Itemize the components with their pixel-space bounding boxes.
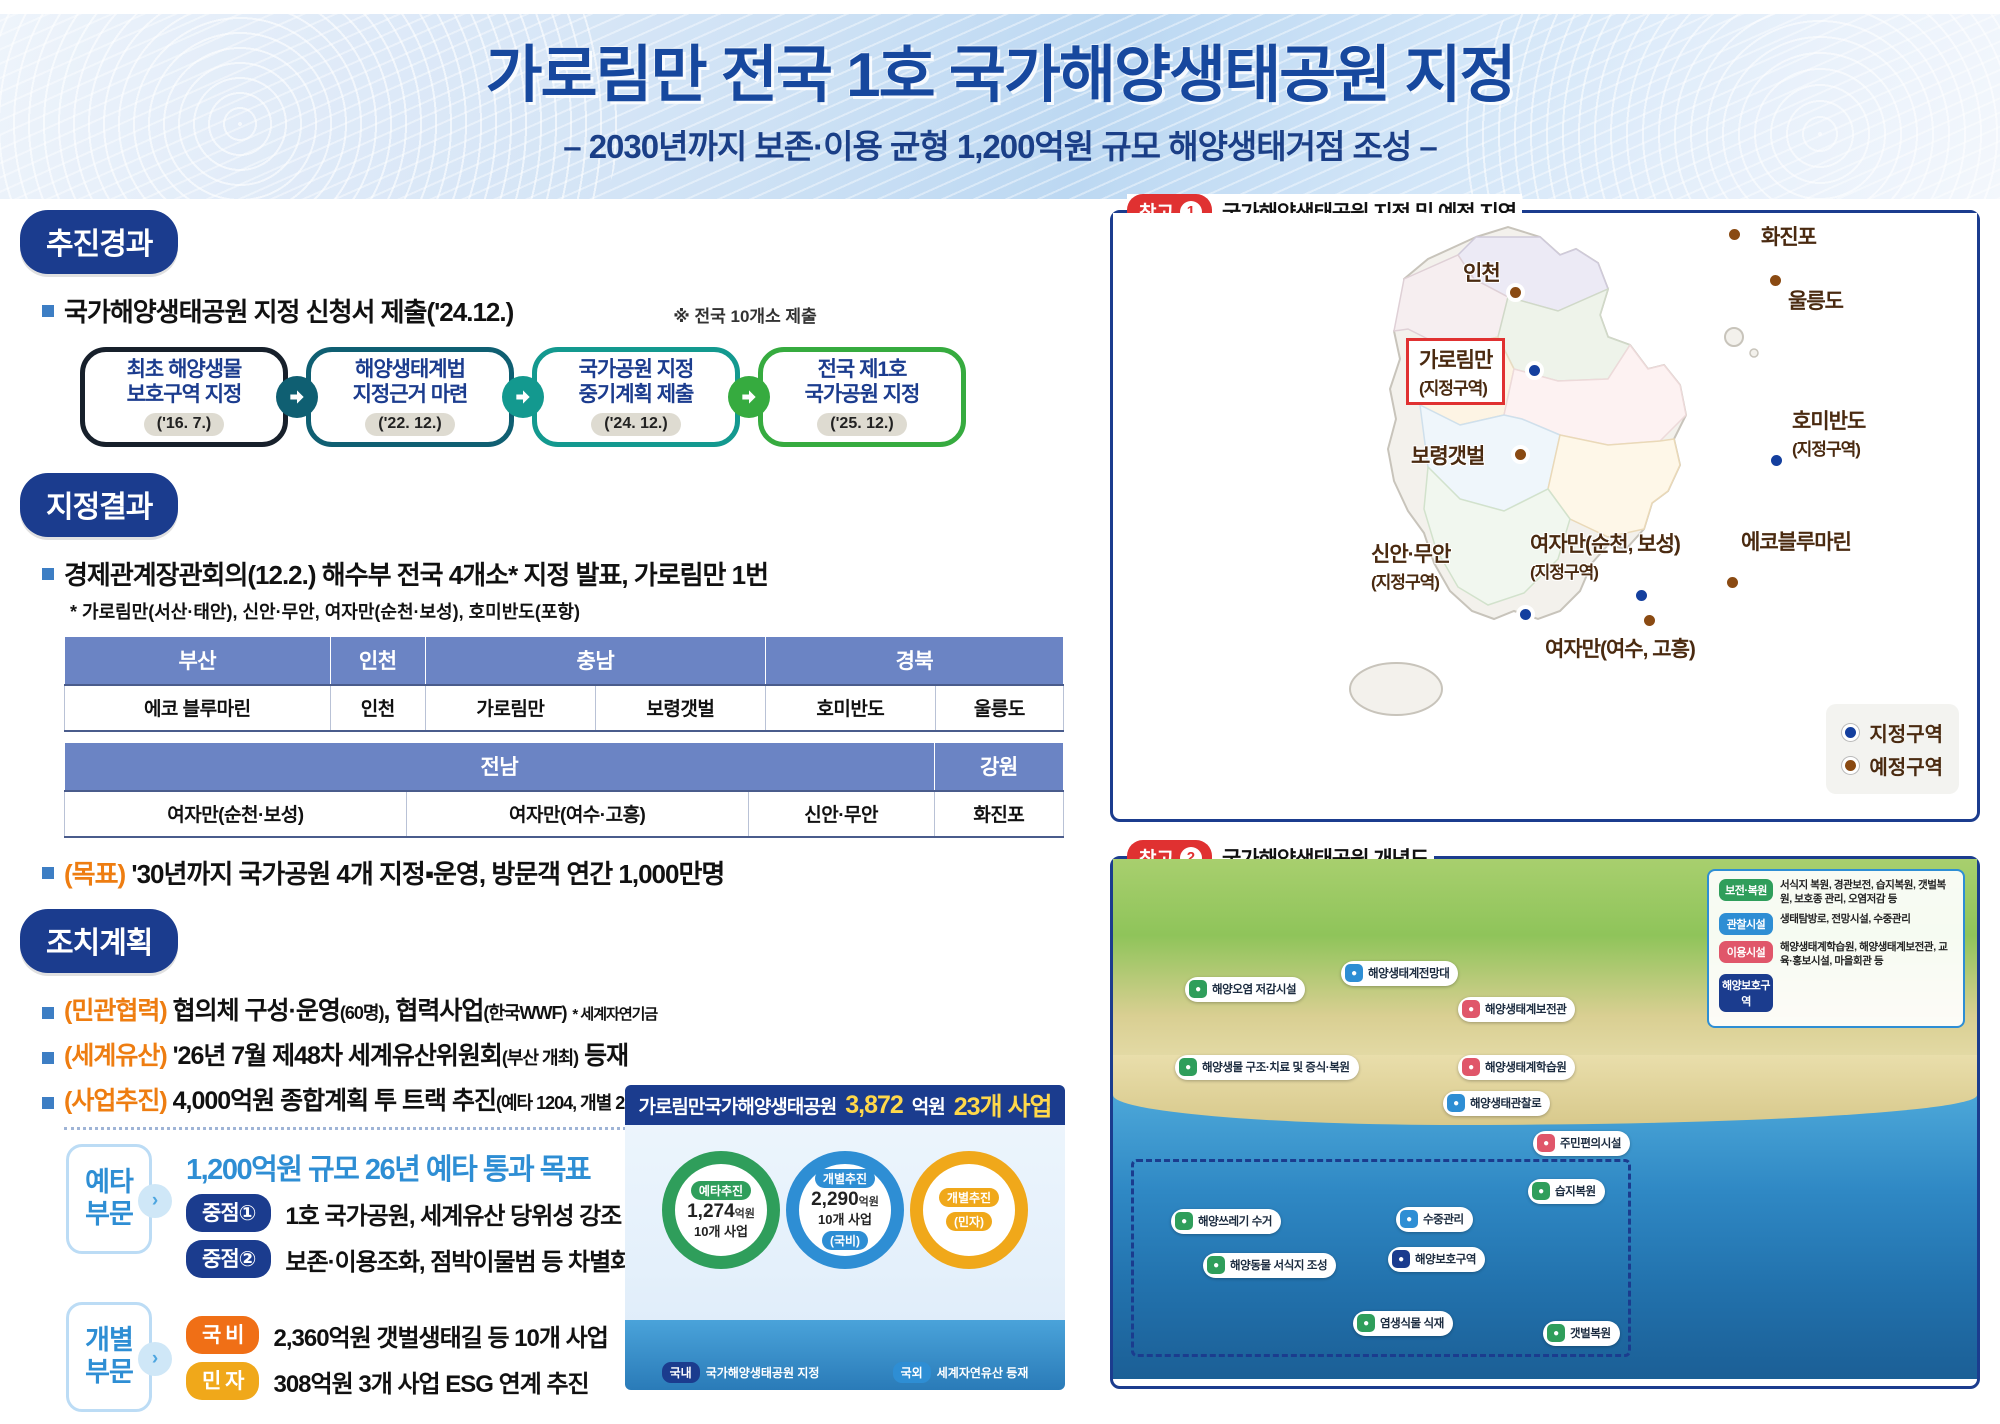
donut-footer-row: 국내국가해양생태공원 지정국외세계자연유산 등재 <box>625 1320 1065 1390</box>
map-label-name: 보령갯벌 <box>1411 445 1484 468</box>
yeta-row-chip: 중점① <box>186 1194 271 1232</box>
page-title: 가로림만 전국 1호 국가해양생태공원 지정 <box>0 24 2000 114</box>
donut-sub: (민자) <box>946 1212 992 1231</box>
donut-panel-header: 가로림만국가해양생태공원 3,872 억원 23개 사업 <box>625 1085 1065 1125</box>
budget-yeta-side-line1: 예타 <box>85 1167 133 1199</box>
map-label-4: 가로림만(지정구역) <box>1406 338 1505 405</box>
donut-panel-unit: 억원 <box>912 1092 945 1119</box>
map-label-sub: (지정구역) <box>1530 558 1680 583</box>
plan-item-main: '26년 7월 제48차 세계유산위원회 <box>173 1042 502 1070</box>
donut-label: 개별추진 <box>939 1188 999 1207</box>
concept-legend-row-4: 해양보호구역 <box>1719 974 1953 1012</box>
table-cell: 신안·무안 <box>748 791 934 837</box>
concept-legend-key: 해양보호구역 <box>1719 974 1773 1012</box>
gaebyeol-row-text: 308억원 3개 사업 ESG 연계 추진 <box>273 1364 588 1399</box>
concept-illustration: 보전·복원서식지 복원, 경관보전, 습지복원, 갯벌복원, 보호종 관리, 오… <box>1113 859 1977 1379</box>
section-heading-result: 지정결과 <box>20 473 178 537</box>
section-heading-progress: 추진경과 <box>20 210 178 274</box>
donut-sub: (국비) <box>822 1231 868 1250</box>
donut-footer-key: 국내 <box>662 1362 700 1383</box>
map-label-name: 화진포 <box>1761 226 1816 249</box>
right-column: 참고 1 국가해양생태공원 지정 및 예정 지역 <box>1110 210 1980 1389</box>
page-subtitle: – 2030년까지 보존·이용 균형 1,200억원 규모 해양생태거점 조성 … <box>0 120 2000 168</box>
map-label-7: 여자만(순천, 보성)(지정구역) <box>1530 528 1680 583</box>
flow-step-title: 국가공원 지정중기계획 제출 <box>579 358 694 407</box>
goal-line: (목표) '30년까지 국가공원 4개 지정▪운영, 방문객 연간 1,000만… <box>64 854 724 891</box>
donut-footer-1: 국내국가해양생태공원 지정 <box>662 1362 820 1383</box>
concept-pin-label: 해양생태관찰로 <box>1470 1095 1541 1111</box>
flow-step-3: 국가공원 지정중기계획 제출('24. 12.) <box>532 347 740 447</box>
map-label-name: 호미반도 <box>1792 410 1865 433</box>
map-marker-dot-icon <box>1516 605 1535 624</box>
plan-item-text: (사업추진) 4,000억원 종합계획 투 트랙 추진(예타 1204, 개별 … <box>64 1081 660 1117</box>
plan-item-tag: (민관협력) <box>64 997 167 1025</box>
designation-table: 부산인천충남경북 에코 블루마린인천가로림만보령갯벌호미반도울릉도 <box>64 636 1064 732</box>
donut-3: 개별추진(민자) <box>910 1151 1028 1269</box>
concept-pin-label: 염생식물 식재 <box>1380 1315 1444 1331</box>
bullet-square-icon <box>42 1052 54 1064</box>
donut-value: 2,290억원 <box>811 1190 879 1209</box>
map-label-name: 여자만(여수, 고흥) <box>1545 638 1695 661</box>
korea-map: 화진포인천울릉도가로림만(지정구역)호미반도(지정구역)보령갯벌여자만(순천, … <box>1113 213 1977 808</box>
concept-pin-6: ●해양생태관찰로 <box>1443 1091 1550 1116</box>
result-footnote: * 가로림만(서산·태안), 신안·무안, 여자만(순천·보성), 호미반도(포… <box>70 598 1100 624</box>
concept-pin-icon: ● <box>1400 1210 1418 1228</box>
table-cell: 울릉도 <box>935 685 1063 731</box>
flow-step-date: ('22. 12.) <box>365 413 454 436</box>
map-label-sub: (지정구역) <box>1371 568 1450 593</box>
concept-pin-label: 해양오염 저감시설 <box>1212 981 1296 997</box>
legend-label-planned: 예정구역 <box>1869 751 1943 780</box>
map-marker-dot-icon <box>1511 445 1530 464</box>
concept-pin-8: ●습지복원 <box>1528 1179 1605 1204</box>
goal-tag: (목표) <box>64 859 125 889</box>
concept-pin-label: 해양쓰레기 수거 <box>1198 1213 1272 1229</box>
concept-pin-label: 해양생태계전망대 <box>1368 965 1449 981</box>
map-label-sub: (지정구역) <box>1419 374 1492 399</box>
bullet-square-icon <box>42 1097 54 1109</box>
concept-legend-key: 관찰시설 <box>1719 913 1773 935</box>
reference-panel-1: 참고 1 국가해양생태공원 지정 및 예정 지역 <box>1110 210 1980 822</box>
donut-panel-prefix: 가로림만국가해양생태공원 <box>638 1092 836 1119</box>
budget-gaebyeol-side-line1: 개별 <box>85 1325 133 1357</box>
map-label-name: 에코블루마린 <box>1741 531 1851 554</box>
donut-footer-key: 국외 <box>893 1362 931 1383</box>
map-marker-dot-icon <box>1632 586 1651 605</box>
map-marker-dot-icon <box>1640 611 1659 630</box>
legend-swatch-planned-icon <box>1842 757 1859 774</box>
bullet-square-icon <box>42 305 54 317</box>
concept-pin-label: 해양동물 서식지 조성 <box>1230 1257 1327 1273</box>
yeta-row-text: 보존·이용조화, 점박이물범 등 차별화 <box>285 1242 631 1277</box>
plan-item-tag: (세계유산) <box>64 1042 167 1070</box>
map-label-name: 여자만(순천, 보성) <box>1530 533 1680 556</box>
goal-text: '30년까지 국가공원 4개 지정▪운영, 방문객 연간 1,000만명 <box>131 859 724 889</box>
concept-pin-icon: ● <box>1179 1058 1197 1076</box>
yeta-row-chip: 중점② <box>186 1240 271 1278</box>
plan-item-main2: , 협력사업 <box>383 997 483 1025</box>
concept-pin-label: 수중관리 <box>1423 1211 1464 1227</box>
map-label-name: 가로림만 <box>1419 349 1492 372</box>
legend-item-planned: 예정구역 <box>1842 751 1943 780</box>
map-marker-dot-icon <box>1725 225 1744 244</box>
bullet-square-icon <box>42 1007 54 1019</box>
concept-pin-label: 갯벌복원 <box>1570 1325 1611 1341</box>
donut-footer-text: 국가해양생태공원 지정 <box>706 1364 820 1381</box>
goal-row: (목표) '30년까지 국가공원 4개 지정▪운영, 방문객 연간 1,000만… <box>42 854 1100 891</box>
map-marker-dot-icon <box>1723 573 1742 592</box>
donut-footer-2: 국외세계자연유산 등재 <box>893 1362 1029 1383</box>
concept-legend-value: 해양생태계학습원, 해양생태계보전관, 교육·홍보시설, 마을회관 등 <box>1780 941 1953 969</box>
plan-item-2: (세계유산) '26년 7월 제48차 세계유산위원회(부산 개최) 등재 <box>42 1036 1100 1072</box>
bullet-square-icon <box>42 568 54 580</box>
concept-pin-icon: ● <box>1462 1058 1480 1076</box>
gaebyeol-row-1: 국 비2,360억원 갯벌생태길 등 10개 사업 <box>186 1316 608 1354</box>
yeta-row-text: 1호 국가공원, 세계유산 당위성 강조 <box>285 1196 621 1231</box>
flow-step-4: 전국 제1호국가공원 지정('25. 12.) <box>758 347 966 447</box>
progress-bullet-text: 국가해양생태공원 지정 신청서 제출('24.12.) <box>64 292 513 329</box>
flow-step-title: 전국 제1호국가공원 지정 <box>805 358 920 407</box>
progress-bullet-row: 국가해양생태공원 지정 신청서 제출('24.12.) ※ 전국 10개소 제출 <box>42 292 1100 329</box>
map-label-name: 인천 <box>1463 262 1500 285</box>
concept-pin-label: 해양생물 구조·치료 및 증식·복원 <box>1202 1059 1350 1075</box>
map-label-9: 신안·무안(지정구역) <box>1371 538 1450 593</box>
table-header-cell: 전남 <box>65 743 935 792</box>
map-label-5: 호미반도(지정구역) <box>1792 405 1865 460</box>
map-label-6: 보령갯벌 <box>1411 440 1484 470</box>
concept-pin-icon: ● <box>1532 1182 1550 1200</box>
map-label-2: 인천 <box>1463 257 1500 287</box>
concept-pin-icon: ● <box>1392 1250 1410 1268</box>
concept-legend-value: 생태탐방로, 전망시설, 수중관리 <box>1780 913 1910 927</box>
table-row: 에코 블루마린인천가로림만보령갯벌호미반도울릉도 <box>65 685 1064 731</box>
gaebyeol-row-2: 민 자308억원 3개 사업 ESG 연계 추진 <box>186 1362 608 1400</box>
concept-pin-icon: ● <box>1175 1212 1193 1230</box>
donut-count: 10개 사업 <box>694 1221 748 1240</box>
bullet-square-icon <box>42 867 54 879</box>
plan-item-text: (세계유산) '26년 7월 제48차 세계유산위원회(부산 개최) 등재 <box>64 1036 628 1072</box>
budget-yeta-headline: 1,200억원 규모 26년 예타 통과 목표 <box>186 1146 631 1188</box>
flow-step-1: 최초 해양생물보호구역 지정('16. 7.) <box>80 347 288 447</box>
table-cell: 인천 <box>330 685 425 731</box>
flow-step-title: 최초 해양생물보호구역 지정 <box>127 358 242 407</box>
table-cell: 보령갯벌 <box>595 685 765 731</box>
map-label-1: 화진포 <box>1761 221 1816 251</box>
concept-pin-12: ●해양보호구역 <box>1388 1247 1485 1272</box>
map-legend: 지정구역 예정구역 <box>1826 704 1959 794</box>
result-bullet-row: 경제관계장관회의(12.2.) 해수부 전국 4개소* 지정 발표, 가로림만 … <box>42 555 1100 592</box>
concept-pin-label: 해양생태계학습원 <box>1485 1059 1566 1075</box>
table-row: 여자만(순천·보성)여자만(여수·고흥)신안·무안화진포 <box>65 791 1064 837</box>
table-cell: 여자만(순천·보성) <box>65 791 407 837</box>
plan-item-main: 4,000억원 종합계획 투 트랙 추진 <box>173 1087 496 1115</box>
concept-pin-icon: ● <box>1537 1134 1555 1152</box>
legend-swatch-designated-icon <box>1842 724 1859 741</box>
result-bullet-text: 경제관계장관회의(12.2.) 해수부 전국 4개소* 지정 발표, 가로림만 … <box>64 555 768 592</box>
concept-pin-icon: ● <box>1345 964 1363 982</box>
concept-pin-icon: ● <box>1547 1324 1565 1342</box>
designation-table-2: 전남강원 여자만(순천·보성)여자만(여수·고흥)신안·무안화진포 <box>64 742 1064 838</box>
plan-item-main: 협의체 구성·운영 <box>173 997 340 1025</box>
concept-pin-1: ●해양오염 저감시설 <box>1185 977 1305 1002</box>
concept-pin-14: ●갯벌복원 <box>1543 1321 1620 1346</box>
concept-legend-row-2: 관찰시설생태탐방로, 전망시설, 수중관리 <box>1719 913 1953 935</box>
table-header-cell: 강원 <box>934 743 1063 792</box>
concept-legend-row-1: 보전·복원서식지 복원, 경관보전, 습지복원, 갯벌복원, 보호종 관리, 오… <box>1719 879 1953 907</box>
budget-yeta-side-line2: 부문 <box>85 1199 133 1231</box>
donut-label: 예타추진 <box>691 1181 751 1200</box>
concept-legend-key: 보전·복원 <box>1719 879 1773 901</box>
gaebyeol-row-text: 2,360억원 갯벌생태길 등 10개 사업 <box>273 1318 607 1353</box>
plan-item-paren: (60명) <box>340 1003 384 1023</box>
concept-pin-icon: ● <box>1462 1000 1480 1018</box>
chevron-right-icon: › <box>138 1184 172 1218</box>
concept-legend-key: 이용시설 <box>1719 941 1773 963</box>
progress-note: ※ 전국 10개소 제출 <box>673 302 816 327</box>
table-cell: 호미반도 <box>765 685 935 731</box>
table-cell: 에코 블루마린 <box>65 685 331 731</box>
donut-panel-count: 23개 사업 <box>954 1087 1052 1123</box>
plan-item-text: (민관협력) 협의체 구성·운영(60명), 협력사업(한국WWF) * 세계자… <box>64 991 657 1027</box>
reference-panel-2: 참고 2 국가해양생태공원 개념도 보전·복원서식지 복원, 경관보전, 습지복… <box>1110 856 1980 1389</box>
concept-pin-11: ●해양동물 서식지 조성 <box>1203 1253 1336 1278</box>
table-header-cell: 경북 <box>765 637 1063 686</box>
korea-map-svg <box>1308 219 1778 799</box>
gaebyeol-row-chip: 민 자 <box>186 1362 259 1400</box>
donut-2: 개별추진2,290억원10개 사업(국비) <box>786 1151 904 1269</box>
concept-pin-3: ●해양생태계보전관 <box>1458 997 1575 1022</box>
map-label-name: 울릉도 <box>1788 290 1843 313</box>
concept-legend-row-3: 이용시설해양생태계학습원, 해양생태계보전관, 교육·홍보시설, 마을회관 등 <box>1719 941 1953 969</box>
concept-pin-label: 습지복원 <box>1555 1183 1596 1199</box>
plan-item-note: * 세계자연기금 <box>572 1006 657 1023</box>
concept-pin-icon: ● <box>1189 980 1207 998</box>
concept-pin-10: ●수중관리 <box>1396 1207 1473 1232</box>
map-marker-dot-icon <box>1766 271 1785 290</box>
map-label-name: 신안·무안 <box>1371 543 1450 566</box>
yeta-row-1: 중점①1호 국가공원, 세계유산 당위성 강조 <box>186 1194 631 1232</box>
legend-label-designated: 지정구역 <box>1869 718 1943 747</box>
table-cell: 화진포 <box>934 791 1063 837</box>
plan-item-tag: (사업추진) <box>64 1087 167 1115</box>
concept-pin-label: 주민편의시설 <box>1560 1135 1621 1151</box>
map-label-3: 울릉도 <box>1788 285 1843 315</box>
table-cell: 가로림만 <box>425 685 595 731</box>
table-header-row-1: 부산인천충남경북 <box>65 637 1064 686</box>
concept-legend: 보전·복원서식지 복원, 경관보전, 습지복원, 갯벌복원, 보호종 관리, 오… <box>1707 869 1965 1028</box>
progress-flow: 최초 해양생물보호구역 지정('16. 7.)해양생태계법지정근거 마련('22… <box>80 347 1100 447</box>
map-label-8: 에코블루마린 <box>1741 526 1851 556</box>
legend-item-designated: 지정구역 <box>1842 718 1943 747</box>
concept-pin-icon: ● <box>1207 1256 1225 1274</box>
flow-arrow-icon <box>728 376 770 418</box>
concept-pin-7: ●주민편의시설 <box>1533 1131 1630 1156</box>
plan-item-main2: 등재 <box>578 1042 628 1070</box>
concept-pin-5: ●해양생태계학습원 <box>1458 1055 1575 1080</box>
concept-pin-label: 해양생태계보전관 <box>1485 1001 1566 1017</box>
budget-gaebyeol-side-line2: 부문 <box>85 1357 133 1389</box>
budget-yeta-rows: 중점①1호 국가공원, 세계유산 당위성 강조중점②보존·이용조화, 점박이물범… <box>186 1194 631 1278</box>
flow-step-date: ('16. 7.) <box>144 413 225 436</box>
plan-item-1: (민관협력) 협의체 구성·운영(60명), 협력사업(한국WWF) * 세계자… <box>42 991 1100 1027</box>
flow-arrow-icon <box>276 376 318 418</box>
donut-row: 예타추진1,274억원10개 사업개별추진2,290억원10개 사업(국비)개별… <box>625 1151 1065 1269</box>
donut-count: 10개 사업 <box>818 1209 872 1228</box>
gaebyeol-row-chip: 국 비 <box>186 1316 259 1354</box>
budget-gaebyeol-rows: 국 비2,360억원 갯벌생태길 등 10개 사업민 자308억원 3개 사업 … <box>186 1316 608 1400</box>
donut-1: 예타추진1,274억원10개 사업 <box>662 1151 780 1269</box>
donut-value: 1,274억원 <box>687 1202 755 1221</box>
concept-pin-icon: ● <box>1447 1094 1465 1112</box>
flow-step-date: ('25. 12.) <box>817 413 906 436</box>
donut-footer-text: 세계자연유산 등재 <box>937 1364 1029 1381</box>
concept-pin-icon: ● <box>1357 1314 1375 1332</box>
map-label-10: 여자만(여수, 고흥) <box>1545 633 1695 663</box>
plan-item-paren: (부산 개최) <box>502 1048 578 1068</box>
flow-step-date: ('24. 12.) <box>591 413 680 436</box>
table-header-cell: 인천 <box>330 637 425 686</box>
chevron-right-icon: › <box>138 1342 172 1376</box>
plan-item-paren2: (한국WWF) <box>483 1003 566 1023</box>
concept-pin-label: 해양보호구역 <box>1415 1251 1476 1267</box>
concept-pin-2: ●해양생태계전망대 <box>1341 961 1458 986</box>
map-marker-dot-icon <box>1767 451 1786 470</box>
concept-pin-9: ●해양쓰레기 수거 <box>1171 1209 1281 1234</box>
section-heading-plan: 조치계획 <box>20 909 178 973</box>
map-label-sub: (지정구역) <box>1792 435 1865 460</box>
table-header-cell: 충남 <box>425 637 765 686</box>
concept-pin-13: ●염생식물 식재 <box>1353 1311 1453 1336</box>
table-header-cell: 부산 <box>65 637 331 686</box>
map-marker-dot-icon <box>1525 361 1544 380</box>
flow-step-title: 해양생태계법지정근거 마련 <box>353 358 468 407</box>
table-header-row-2: 전남강원 <box>65 743 1064 792</box>
donut-label: 개별추진 <box>815 1169 875 1188</box>
map-marker-dot-icon <box>1506 283 1525 302</box>
flow-step-2: 해양생태계법지정근거 마련('22. 12.) <box>306 347 514 447</box>
table-cell: 여자만(여수·고흥) <box>406 791 748 837</box>
concept-legend-value: 서식지 복원, 경관보전, 습지복원, 갯벌복원, 보호종 관리, 오염저감 등 <box>1780 879 1953 907</box>
flow-arrow-icon <box>502 376 544 418</box>
yeta-row-2: 중점②보존·이용조화, 점박이물범 등 차별화 <box>186 1240 631 1278</box>
budget-donut-panel: 가로림만국가해양생태공원 3,872 억원 23개 사업 예타추진1,274억원… <box>625 1085 1065 1390</box>
concept-pin-4: ●해양생물 구조·치료 및 증식·복원 <box>1175 1055 1359 1080</box>
donut-panel-amount: 3,872 <box>845 1091 903 1120</box>
